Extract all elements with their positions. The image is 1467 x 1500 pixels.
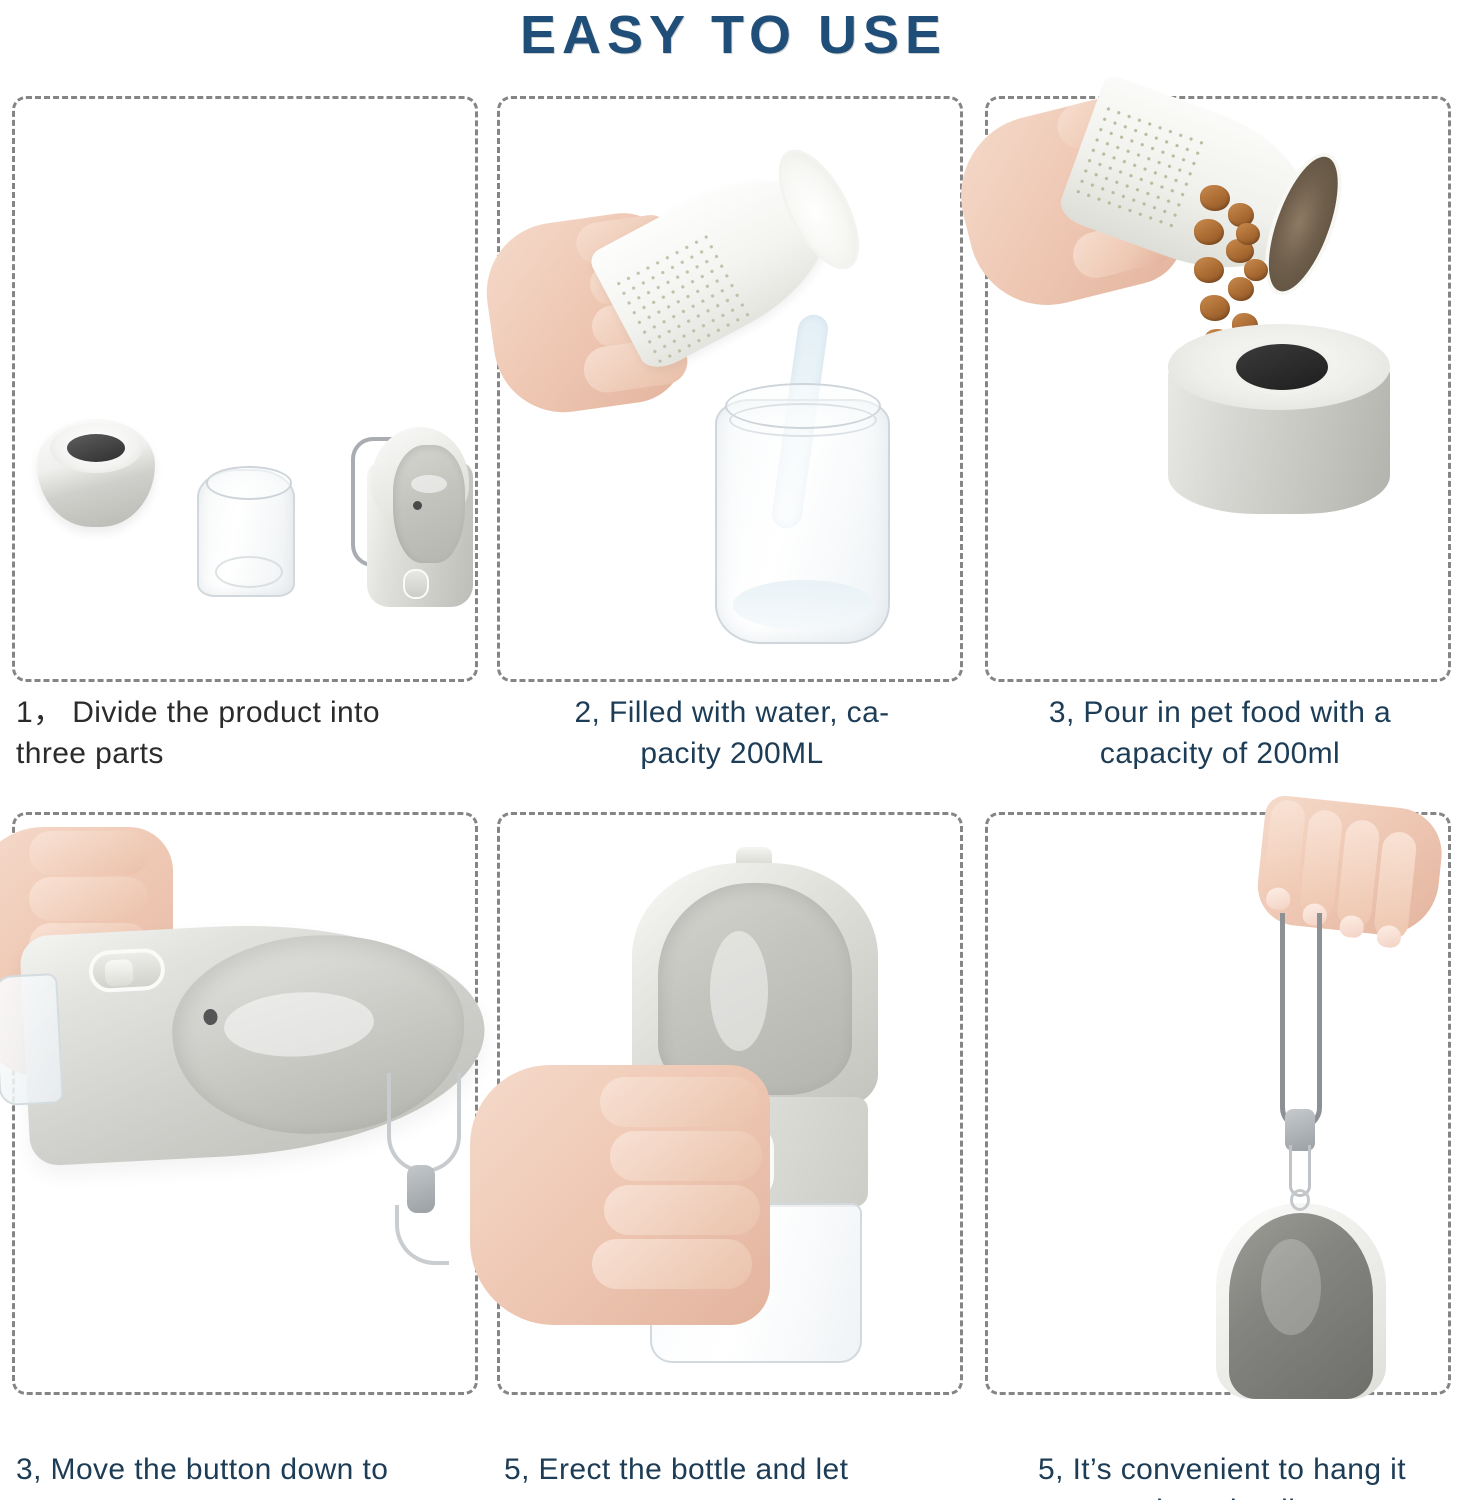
step-6-caption-line1: 5, It’s convenient to hang it <box>1038 1453 1406 1486</box>
step-2-caption: 2, Filled with water, ca- <box>497 692 967 733</box>
step-6-caption-line2: on the schoolbag <box>984 1490 1460 1500</box>
bowl-unit-part <box>367 427 473 607</box>
air-hole-icon <box>413 501 422 510</box>
wrist-strap-icon <box>367 1073 477 1263</box>
easy-to-use-infographic: EASY TO USE 1， Divide the product into t… <box>0 0 1467 1500</box>
food-opening <box>1236 344 1328 390</box>
step-panel-5 <box>497 812 963 1395</box>
slide-button-icon <box>403 569 429 599</box>
hand-icon <box>470 1065 770 1325</box>
step-2-caption-line2: pacity 200ML <box>497 733 967 774</box>
cup-dot-pattern <box>1071 102 1207 233</box>
step-6-illustration <box>988 815 1448 1392</box>
bottle-bowl-icon <box>1216 1203 1386 1403</box>
drinking-bowl-icon <box>658 883 852 1095</box>
kibble-icon <box>1236 223 1260 245</box>
water-tank-icon <box>0 973 64 1106</box>
step-3-caption-line2: capacity of 200ml <box>985 733 1455 774</box>
step-panel-6 <box>985 812 1451 1395</box>
water-pool <box>733 580 875 630</box>
step-panel-3 <box>985 96 1451 682</box>
kibble-icon <box>1194 219 1224 245</box>
kibble-icon <box>1228 277 1254 301</box>
kibble-icon <box>1200 185 1230 211</box>
slide-button-icon[interactable] <box>88 947 166 993</box>
step-panel-2 <box>497 96 963 682</box>
step-1-caption-line2: three parts <box>16 733 486 774</box>
clear-bottle-part <box>197 469 295 597</box>
step-6-caption: 5, It’s convenient to hang it on the sch… <box>984 1408 1460 1500</box>
step-3-illustration <box>988 99 1448 679</box>
step-5-caption: 5, Erect the bottle and let the undrinke… <box>496 1408 972 1500</box>
kibble-icon <box>1200 295 1230 321</box>
kibble-icon <box>1244 259 1268 281</box>
step-4-caption-line1: 3, Move the button down to <box>16 1449 484 1490</box>
step-1-illustration <box>15 99 475 679</box>
step-panel-4 <box>12 812 478 1395</box>
kibble-icon <box>1194 257 1224 283</box>
step-2-illustration <box>500 99 960 679</box>
step-1-caption: 1， Divide the product into <box>16 692 486 733</box>
wrist-strap-icon <box>1280 913 1322 1149</box>
step-4-caption: 3, Move the button down to open the tank… <box>8 1408 484 1500</box>
page-title: EASY TO USE <box>0 2 1467 68</box>
step-5-caption-line1: 5, Erect the bottle and let <box>504 1449 972 1490</box>
step-4-illustration <box>15 815 475 1392</box>
step-5-illustration <box>500 815 960 1392</box>
step-panel-1 <box>12 96 478 682</box>
clear-bottle-icon <box>715 399 890 644</box>
step-3-caption: 3, Pour in pet food with a <box>985 692 1455 733</box>
food-container-icon <box>1168 324 1390 514</box>
bottle-cap-part <box>37 419 155 527</box>
